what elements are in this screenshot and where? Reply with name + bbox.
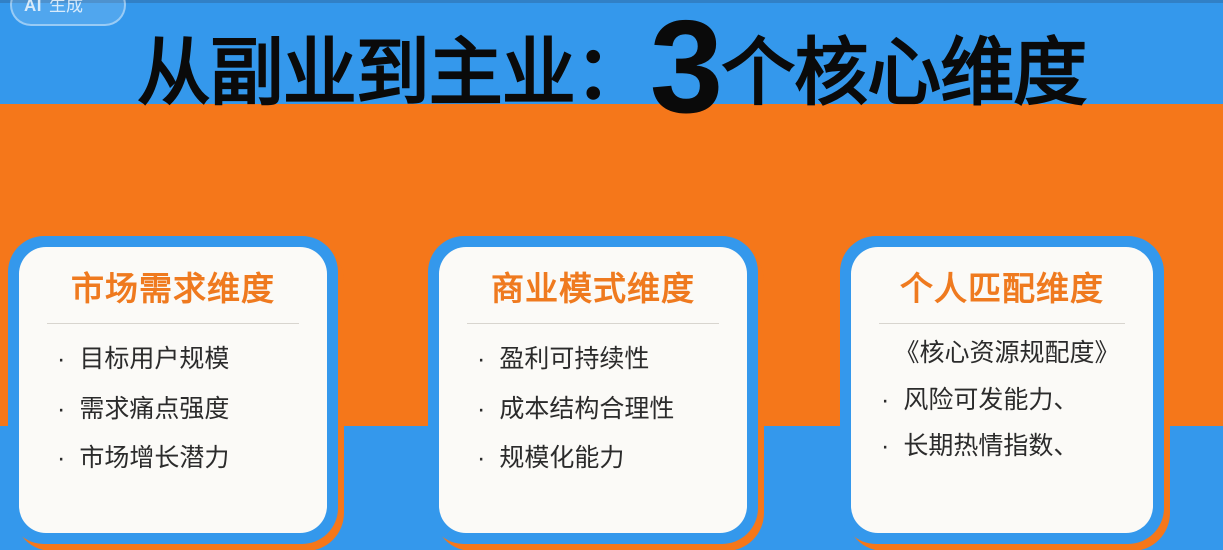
card-title: 个人匹配维度 [871, 271, 1133, 307]
bullet-dot-icon: · [477, 347, 485, 372]
ai-logo-icon: AI [24, 0, 42, 14]
ai-generated-watermark-badge: AI 生成 [10, 0, 126, 26]
list-item: · 目标用户规模 [57, 346, 307, 374]
card-frame: 个人匹配维度 《核心资源规配度》 · 风险可发能力、 · 长期热情指数、 [840, 236, 1164, 544]
bullet-dot-icon: · [57, 446, 65, 471]
list-item-label: 需求痛点强度 [79, 396, 229, 424]
bullet-dot-icon: · [57, 397, 65, 422]
list-item: · 长期热情指数、 [881, 433, 1133, 461]
list-item-label: 市场增长潜力 [79, 445, 229, 473]
list-item-label: 规模化能力 [499, 445, 624, 473]
dimension-card-business-model[interactable]: 商业模式维度 · 盈利可持续性 · 成本结构合理性 · 规 [428, 236, 758, 544]
card-frame: 市场需求维度 · 目标用户规模 · 需求痛点强度 · 市场 [8, 236, 338, 544]
dimension-card-market-demand[interactable]: 市场需求维度 · 目标用户规模 · 需求痛点强度 · 市场 [8, 236, 338, 544]
card-panel: 个人匹配维度 《核心资源规配度》 · 风险可发能力、 · 长期热情指数、 [851, 247, 1153, 533]
bullet-dot-icon: · [881, 388, 889, 413]
list-item-label: 目标用户规模 [79, 346, 229, 374]
card-divider [467, 323, 719, 324]
bullet-dot-icon: · [477, 446, 485, 471]
list-item-label: 成本结构合理性 [499, 396, 674, 424]
bullet-dot-icon: · [57, 347, 65, 372]
card-frame: 商业模式维度 · 盈利可持续性 · 成本结构合理性 · 规 [428, 236, 758, 544]
card-item-list: · 目标用户规模 · 需求痛点强度 · 市场增长潜力 [39, 346, 307, 473]
list-item: · 盈利可持续性 [477, 346, 727, 374]
card-title: 商业模式维度 [459, 271, 727, 307]
card-panel: 商业模式维度 · 盈利可持续性 · 成本结构合理性 · 规 [439, 247, 747, 533]
card-item-list: · 盈利可持续性 · 成本结构合理性 · 规模化能力 [459, 346, 727, 473]
bullet-dot-icon: · [477, 397, 485, 422]
list-item: · 需求痛点强度 [57, 396, 307, 424]
bullet-dot-icon: · [881, 434, 889, 459]
card-divider [879, 323, 1125, 324]
slide-canvas: AI 生成 从副业到主业： 3 个核心维度 市场需求维度 · 目标用户规模 [0, 0, 1223, 550]
list-item: · 风险可发能力、 [881, 387, 1133, 415]
list-item: · 成本结构合理性 [477, 396, 727, 424]
list-item: · 规模化能力 [477, 445, 727, 473]
card-item-list: 《核心资源规配度》 · 风险可发能力、 · 长期热情指数、 [871, 340, 1133, 461]
list-item-label: 风险可发能力、 [903, 387, 1078, 415]
dimension-card-personal-fit[interactable]: 个人匹配维度 《核心资源规配度》 · 风险可发能力、 · 长期热情指数、 [840, 236, 1164, 544]
ai-watermark-label: 生成 [49, 0, 83, 14]
list-item-label: 长期热情指数、 [903, 433, 1078, 461]
card-divider [47, 323, 299, 324]
list-item-label: 盈利可持续性 [499, 346, 649, 374]
list-item: · 市场增长潜力 [57, 445, 307, 473]
card-panel: 市场需求维度 · 目标用户规模 · 需求痛点强度 · 市场 [19, 247, 327, 533]
dimension-cards: 市场需求维度 · 目标用户规模 · 需求痛点强度 · 市场 [0, 0, 1223, 550]
card-lead-text: 《核心资源规配度》 [881, 340, 1133, 368]
card-title: 市场需求维度 [39, 271, 307, 307]
